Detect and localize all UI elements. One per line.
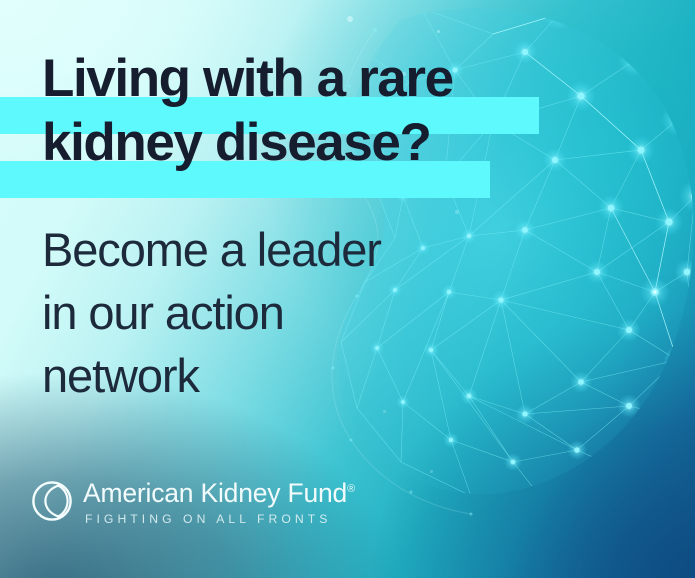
american-kidney-fund-logo[interactable]: American Kidney Fund® FIGHTING ON ALL FR… <box>31 479 355 527</box>
headline: Living with a rare kidney disease? <box>42 47 552 175</box>
copy-block: Living with a rare kidney disease? Becom… <box>0 0 560 578</box>
logo-wordmark-text: American Kidney Fund <box>83 478 347 508</box>
logo-text: American Kidney Fund® FIGHTING ON ALL FR… <box>83 479 355 527</box>
kidney-circle-logo-icon <box>31 480 73 522</box>
ad-banner: Living with a rare kidney disease? Becom… <box>0 0 695 578</box>
logo-wordmark: American Kidney Fund® <box>83 479 355 508</box>
registered-trademark-icon: ® <box>347 483 355 495</box>
logo-tagline: FIGHTING ON ALL FRONTS <box>85 511 355 527</box>
subheadline: Become a leader in our action network <box>42 218 472 407</box>
